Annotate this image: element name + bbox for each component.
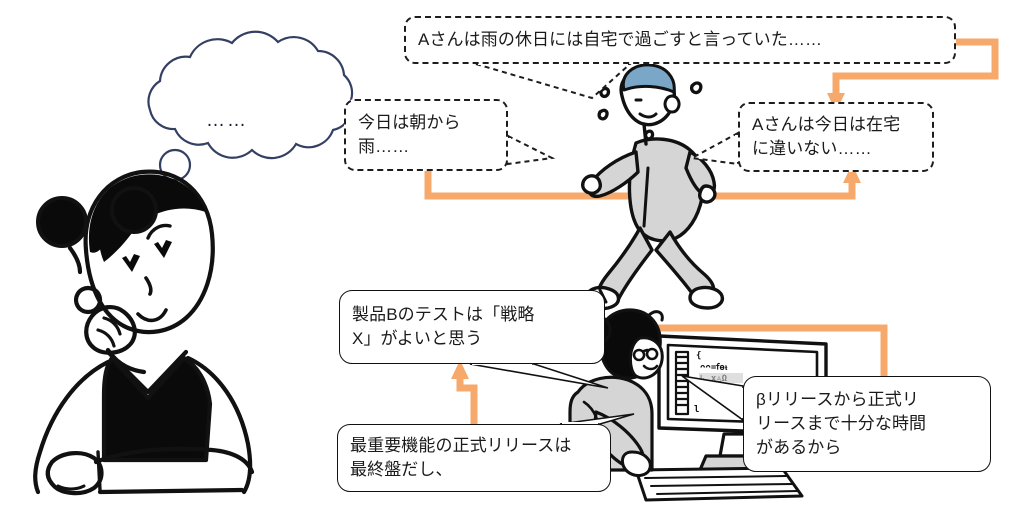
screen-code-line-1: { (696, 351, 701, 361)
woman-finger-2 (98, 330, 114, 346)
screen-code-line-5: l (694, 405, 699, 415)
runner-hand-front (700, 186, 715, 202)
bubble-premise-final-release: 最重要機能の正式リリースは 最終盤だし、 (337, 424, 611, 492)
woman-eye-left (122, 254, 140, 272)
bubble-premise-morning-rain-text: 今日は朝から 雨…… (358, 111, 494, 159)
woman-fist-crease (58, 486, 84, 489)
sweat-drop-2 (599, 110, 607, 118)
arrow-final-release-to-strategy-x (460, 374, 474, 424)
woman-table-edge (100, 490, 242, 492)
sweat-drop-3 (692, 83, 701, 92)
woman-eye-right (154, 240, 172, 258)
woman-nose (146, 278, 151, 294)
runner-ear (665, 96, 679, 112)
bubble-conclusion-strategy-x: 製品Bのテストは「戦略 X」がよいと思う (339, 290, 605, 364)
sweat-drop-1 (601, 88, 609, 96)
woman-brow-right (148, 226, 170, 239)
thinking-woman-figure (35, 172, 252, 493)
bubble-conclusion-rain-holiday-text: Aさんは雨の休日には自宅で過ごすと言っていた…… (418, 28, 942, 52)
tail-premise-morning-rain (508, 136, 552, 164)
running-man-figure (583, 65, 723, 309)
runner-shoe-front (690, 287, 722, 308)
bubble-premise-morning-rain: 今日は朝から 雨…… (344, 99, 508, 171)
bubble-conclusion-at-home: Aさんは今日は在宅 に違いない…… (738, 102, 934, 172)
thought-cloud-text: …… (206, 110, 248, 132)
bubble-premise-enough-time-text: βリリースから正式リ リースまで十分な時間 があるから (756, 388, 978, 460)
thought-cloud-outline (148, 32, 352, 158)
woman-ear (76, 288, 100, 312)
tail-conclusion-strategy-x (470, 364, 608, 388)
woman-bun-right (112, 188, 156, 232)
runner-neck (644, 124, 646, 144)
bubble-conclusion-strategy-x-text: 製品Bのテストは「戦略 X」がよいと思う (352, 303, 592, 351)
desk-person-hand (622, 452, 650, 475)
woman-mouth (138, 310, 166, 320)
woman-cuff (98, 452, 100, 490)
runner-hair (623, 65, 674, 92)
bubble-conclusion-at-home-text: Aさんは今日は在宅 に違いない…… (752, 113, 920, 161)
woman-fist (48, 453, 102, 493)
runner-hand-back (583, 176, 601, 193)
bubble-conclusion-rain-holiday: Aさんは雨の休日には自宅で過ごすと言っていた…… (404, 16, 956, 64)
bubble-premise-final-release-text: 最重要機能の正式リリースは 最終盤だし、 (350, 434, 598, 482)
diagram-canvas: { ᴖᴖ=ꬵѳᵼ ↳ x◬Ω (ᴖ.ꬵᴖѳᴖ) l (0, 0, 1024, 508)
woman-bun-wisp (70, 248, 80, 272)
woman-bun-left-inner (47, 207, 77, 237)
woman-vest (104, 358, 210, 460)
bubble-premise-enough-time: βリリースから正式リ リースまで十分な時間 があるから (743, 376, 991, 472)
screen-code-line-2: ᴖᴖ=ꬵѳᵼ (700, 362, 728, 373)
